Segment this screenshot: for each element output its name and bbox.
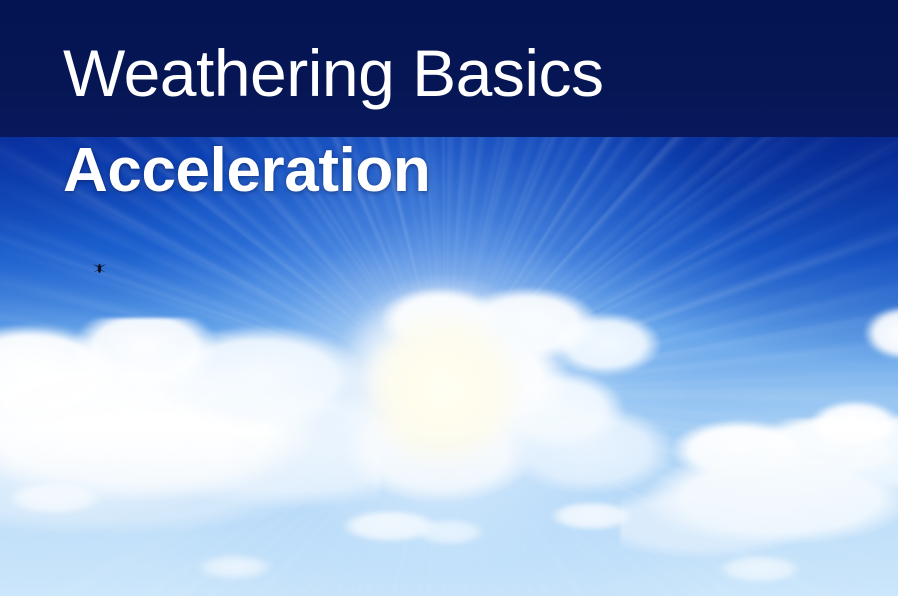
cloud-small-bottom-left [180, 545, 310, 589]
cloud-small-center [320, 500, 500, 558]
cloud-right-edge [850, 288, 898, 378]
cloud-small-bottom-right [700, 545, 840, 593]
cloud-right-upper [795, 392, 898, 470]
title-card-image: Weathering Basics Acceleration [0, 0, 898, 596]
page-subtitle: Acceleration [63, 134, 430, 208]
cloud-small-left [0, 470, 150, 524]
cloud-small-center-right [530, 492, 680, 542]
bird-icon [91, 262, 108, 275]
page-title: Weathering Basics [63, 36, 604, 110]
